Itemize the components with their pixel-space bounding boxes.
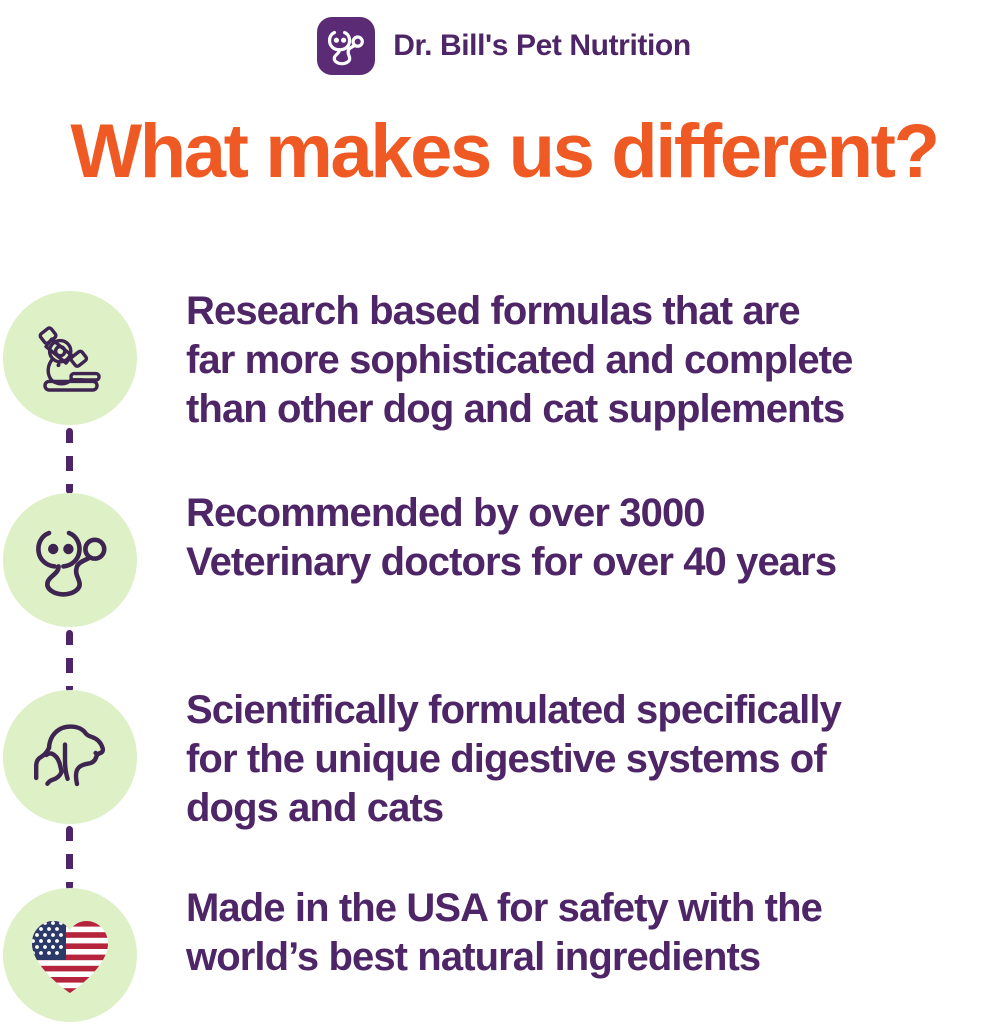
- feature-icon-badge: [3, 690, 137, 824]
- dashed-connector-line: [66, 826, 73, 890]
- feature-text-line: for the unique digestive systems of: [186, 735, 1004, 784]
- feature-icon-badge: [3, 888, 137, 1022]
- feature-icon-badge: [3, 493, 137, 627]
- dashed-connector-line: [66, 428, 73, 494]
- feature-text-line: dogs and cats: [186, 784, 1004, 833]
- feature-text-line: Veterinary doctors for over 40 years: [186, 538, 1004, 587]
- feature-text: Made in the USA for safety with the worl…: [186, 884, 1004, 982]
- brand-header: Dr. Bill's Pet Nutrition: [0, 0, 1008, 92]
- feature-text-line: Scientifically formulated specifically: [186, 686, 1004, 735]
- page-headline: What makes us different?: [0, 112, 1008, 192]
- feature-text: Research based formulas that are far mor…: [186, 287, 1004, 434]
- microscope-icon: [27, 315, 113, 401]
- usa-flag-heart-icon: [24, 912, 116, 998]
- dashed-connector-line: [66, 630, 73, 692]
- dog-and-cat-icon: [25, 712, 115, 802]
- feature-text-line: than other dog and cat supplements: [186, 385, 1004, 434]
- feature-text-line: Recommended by over 3000: [186, 489, 1004, 538]
- stethoscope-face-icon: [325, 25, 367, 67]
- stethoscope-face-icon: [27, 517, 113, 603]
- feature-text-line: Research based formulas that are: [186, 287, 1004, 336]
- feature-text-line: far more sophisticated and complete: [186, 336, 1004, 385]
- feature-text: Scientifically formulated specifically f…: [186, 686, 1004, 833]
- feature-icon-badge: [3, 291, 137, 425]
- brand-name: Dr. Bill's Pet Nutrition: [393, 31, 691, 61]
- feature-text: Recommended by over 3000 Veterinary doct…: [186, 489, 1004, 587]
- feature-text-line: Made in the USA for safety with the: [186, 884, 1004, 933]
- feature-text-line: world’s best natural ingredients: [186, 933, 1004, 982]
- brand-logo-mark: [317, 17, 375, 75]
